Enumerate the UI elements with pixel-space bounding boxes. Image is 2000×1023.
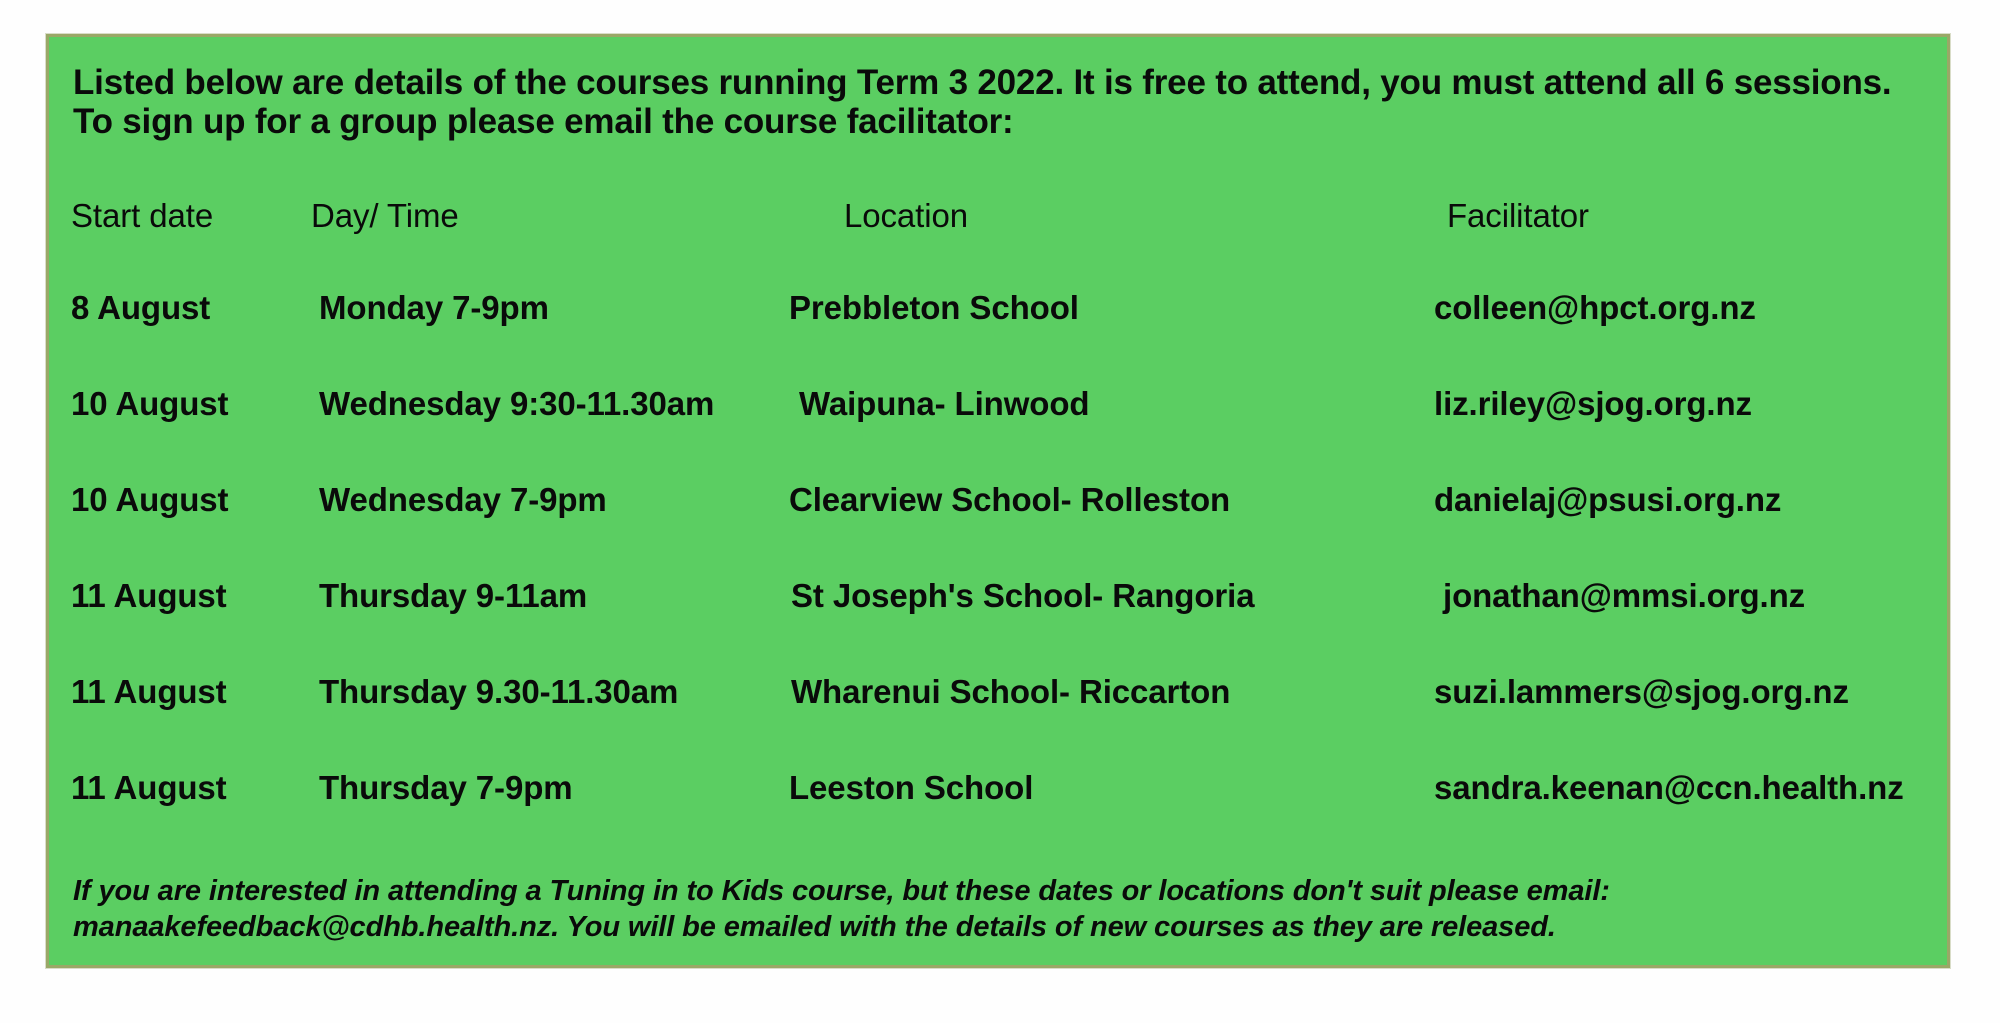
intro-paragraph: Listed below are details of the courses … (73, 63, 1913, 141)
column-header-start-date: Start date (71, 197, 213, 235)
cell-facilitator-email[interactable]: liz.riley@sjog.org.nz (1434, 385, 1752, 423)
cell-facilitator-email[interactable]: suzi.lammers@sjog.org.nz (1434, 673, 1849, 711)
cell-day-time: Thursday 9-11am (319, 577, 587, 615)
footnote-line-1: If you are interested in attending a Tun… (73, 874, 1923, 909)
cell-facilitator-email[interactable]: colleen@hpct.org.nz (1434, 289, 1756, 327)
column-header-day-time: Day/ Time (311, 197, 459, 235)
cell-facilitator-email[interactable]: jonathan@mmsi.org.nz (1443, 577, 1805, 615)
cell-location: Waipuna- Linwood (799, 385, 1089, 423)
cell-location: Wharenui School- Riccarton (791, 673, 1230, 711)
page-canvas: Listed below are details of the courses … (0, 0, 2000, 1023)
cell-facilitator-email[interactable]: sandra.keenan@ccn.health.nz (1434, 769, 1904, 807)
cell-day-time: Thursday 9.30-11.30am (319, 673, 678, 711)
course-schedule-panel: Listed below are details of the courses … (46, 34, 1950, 968)
table-row: 11 August Thursday 9.30-11.30am Wharenui… (49, 673, 1947, 769)
table-row: 10 August Wednesday 9:30-11.30am Waipuna… (49, 385, 1947, 481)
schedule-table: Start date Day/ Time Location Facilitato… (49, 197, 1947, 865)
table-row: 11 August Thursday 7-9pm Leeston School … (49, 769, 1947, 865)
table-row: 11 August Thursday 9-11am St Joseph's Sc… (49, 577, 1947, 673)
cell-day-time: Wednesday 9:30-11.30am (319, 385, 714, 423)
cell-location: Leeston School (789, 769, 1033, 807)
cell-facilitator-email[interactable]: danielaj@psusi.org.nz (1434, 481, 1781, 519)
table-header-row: Start date Day/ Time Location Facilitato… (49, 197, 1947, 289)
table-row: 10 August Wednesday 7-9pm Clearview Scho… (49, 481, 1947, 577)
footnote-note: If you are interested in attending a Tun… (73, 874, 1923, 945)
column-header-location: Location (844, 197, 968, 235)
cell-start-date: 10 August (71, 385, 228, 423)
cell-day-time: Wednesday 7-9pm (319, 481, 607, 519)
cell-day-time: Monday 7-9pm (319, 289, 549, 327)
cell-start-date: 8 August (71, 289, 210, 327)
footnote-line-2: manaakefeedback@cdhb.health.nz. You will… (73, 910, 1923, 945)
table-row: 8 August Monday 7-9pm Prebbleton School … (49, 289, 1947, 385)
column-header-facilitator: Facilitator (1447, 197, 1589, 235)
cell-start-date: 11 August (71, 769, 227, 807)
cell-start-date: 10 August (71, 481, 228, 519)
cell-day-time: Thursday 7-9pm (319, 769, 573, 807)
intro-line-1: Listed below are details of the courses … (73, 63, 1724, 102)
cell-start-date: 11 August (71, 673, 227, 711)
cell-location: Prebbleton School (789, 289, 1079, 327)
cell-location: St Joseph's School- Rangoria (791, 577, 1254, 615)
cell-location: Clearview School- Rolleston (789, 481, 1230, 519)
cell-start-date: 11 August (71, 577, 227, 615)
